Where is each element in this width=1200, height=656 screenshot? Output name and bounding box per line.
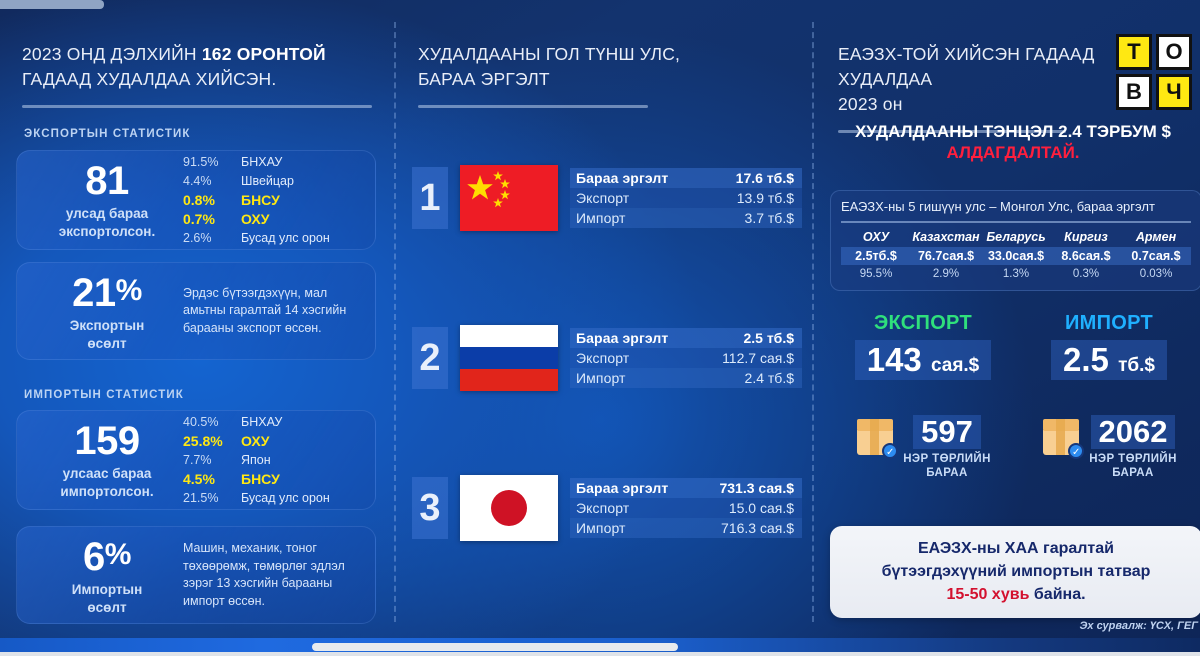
import-value: 716.3 сая.$ xyxy=(721,520,794,536)
import-country-count: 159 xyxy=(74,419,139,463)
import-country-list: 40.5%БНХАУ 25.8%ОХУ 7.7%Япон 4.5%БНСУ 21… xyxy=(183,413,361,508)
japan-flag-icon xyxy=(460,475,558,541)
col-header: Казахстан xyxy=(911,229,981,247)
export-value: 15.0 сая.$ xyxy=(729,500,794,516)
import-label: Импорт xyxy=(576,210,626,226)
rank-number: 1 xyxy=(412,167,448,229)
eaeu-table: ОХУ Казахстан Беларусь Киргиз Армен 2.5т… xyxy=(841,229,1191,281)
list-item: 4.5%БНСУ xyxy=(183,470,361,489)
check-badge-icon: ✓ xyxy=(882,443,898,459)
list-item: 40.5%БНХАУ xyxy=(183,413,361,432)
right-column: ЕАЭЗХ-ТОЙ ХИЙСЭН ГАДААД ХУДАЛДАА2023 он … xyxy=(820,0,1200,638)
export-growth-caption: Экспортынөсөлт xyxy=(70,317,144,353)
turnover-label: Бараа эргэлт xyxy=(576,330,668,346)
table-header-row: ОХУ Казахстан Беларусь Киргиз Армен xyxy=(841,229,1191,247)
middle-column: ХУДАЛДААНЫ ГОЛ ТҮНШ УЛС,БАРАА ЭРГЭЛТ 1 Б… xyxy=(400,0,812,638)
china-flag-icon xyxy=(460,165,558,231)
pct-value: 0.7% xyxy=(183,210,235,229)
partner-stats-3: Бараа эргэлт731.3 сая.$ Экспорт15.0 сая.… xyxy=(570,478,802,538)
heading-rule xyxy=(418,105,648,108)
import-row: Импорт3.7 тб.$ xyxy=(570,208,802,228)
country-name: Япон xyxy=(241,451,271,470)
turnover-label: Бараа эргэлт xyxy=(576,170,668,186)
col-header: ОХУ xyxy=(841,229,911,247)
import-count-block: 159 улсаас барааимпортолсон. xyxy=(31,419,183,501)
export-growth-block: 21% Экспортынөсөлт xyxy=(31,269,183,353)
import-count-caption: улсаас барааимпортолсон. xyxy=(60,465,153,501)
left-column: 2023 ОНД ДЭЛХИЙН 162 ОРОНТОЙГАДААД ХУДАЛ… xyxy=(0,0,396,638)
logo-tile-t: Т xyxy=(1116,34,1152,70)
eaeu-import-label: ИМПОРТ xyxy=(1016,312,1200,335)
pct-value: 0.8% xyxy=(183,191,235,210)
left-heading-block: 2023 ОНД ДЭЛХИЙН 162 ОРОНТОЙГАДААД ХУДАЛ… xyxy=(22,42,372,108)
middle-heading-block: ХУДАЛДААНЫ ГОЛ ТҮНШ УЛС,БАРАА ЭРГЭЛТ xyxy=(418,42,718,108)
eaeu-import-block: ИМПОРТ 2.5 тб.$ xyxy=(1016,312,1200,380)
export-import-summary: ЭКСПОРТ 143 сая.$ ИМПОРТ 2.5 тб.$ xyxy=(830,312,1200,380)
country-name: Бусад улс орон xyxy=(241,489,330,508)
goods-item-import: ✓ 2062 НЭР ТӨРЛИЙНБАРАА xyxy=(1016,415,1200,480)
import-growth-note: Машин, механик, тоног төхөөрөмж, төмөрлө… xyxy=(183,540,361,610)
pct-value: 4.4% xyxy=(183,172,235,191)
import-row: Импорт716.3 сая.$ xyxy=(570,518,802,538)
russia-flag-icon xyxy=(460,325,558,391)
column-divider-left xyxy=(394,22,396,622)
cell-value: 0.7сая.$ xyxy=(1121,247,1191,265)
eaeu-table-card: ЕАЭЗХ-ны 5 гишүүн улс – Монгол Улс, бара… xyxy=(830,190,1200,291)
partner-row-3: 3 Бараа эргэлт731.3 сая.$ Экспорт15.0 са… xyxy=(412,475,802,541)
import-growth-caption: Импортынөсөлт xyxy=(72,581,142,617)
goods-caption: НЭР ТӨРЛИЙНБАРАА xyxy=(1089,452,1177,480)
eaeu-export-block: ЭКСПОРТ 143 сая.$ xyxy=(830,312,1016,380)
country-name: БНХАУ xyxy=(241,413,282,432)
pct-value: 25.8% xyxy=(183,432,235,451)
export-count-block: 81 улсад барааэкспортолсон. xyxy=(31,159,183,241)
logo-tile-v: В xyxy=(1116,74,1152,110)
import-growth-value: 6% xyxy=(83,533,131,579)
list-item: 0.8%БНСУ xyxy=(183,191,361,210)
import-value: 3.7 тб.$ xyxy=(745,210,794,226)
export-label: Экспорт xyxy=(576,500,629,516)
eaeu-export-label: ЭКСПОРТ xyxy=(830,312,1016,335)
export-growth-value: 21% xyxy=(72,269,142,315)
country-name: Бусад улс орон xyxy=(241,229,330,248)
list-item: 7.7%Япон xyxy=(183,451,361,470)
import-countries-card: 159 улсаас барааимпортолсон. 40.5%БНХАУ … xyxy=(16,410,376,510)
turnover-row: Бараа эргэлт731.3 сая.$ xyxy=(570,478,802,498)
turnover-row: Бараа эргэлт2.5 тб.$ xyxy=(570,328,802,348)
list-item: 2.6%Бусад улс орон xyxy=(183,229,361,248)
export-country-list: 91.5%БНХАУ 4.4%Швейцар 0.8%БНСУ 0.7%ОХУ … xyxy=(183,153,361,248)
infographic-canvas: 2023 ОНД ДЭЛХИЙН 162 ОРОНТОЙГАДААД ХУДАЛ… xyxy=(0,0,1200,656)
export-row: Экспорт13.9 тб.$ xyxy=(570,188,802,208)
country-name: ОХУ xyxy=(241,210,269,229)
window-bottom-edge xyxy=(0,652,1200,656)
source-note: Эх сурвалж: ҮСХ, ГЕГ xyxy=(830,620,1200,632)
country-name: Швейцар xyxy=(241,172,294,191)
eaeu-table-caption: ЕАЭЗХ-ны 5 гишүүн улс – Монгол Улс, бара… xyxy=(841,199,1191,223)
country-name: БНХАУ xyxy=(241,153,282,172)
callout-red-value: 15-50 хувь xyxy=(946,586,1029,603)
list-item: 25.8%ОХУ xyxy=(183,432,361,451)
export-growth-note: Эрдэс бүтээгдэхүүн, мал амьтны гаралтай … xyxy=(183,285,361,338)
cell-percent: 2.9% xyxy=(911,265,981,281)
partner-stats-1: Бараа эргэлт17.6 тб.$ Экспорт13.9 тб.$ И… xyxy=(570,168,802,228)
table-row: 95.5% 2.9% 1.3% 0.3% 0.03% xyxy=(841,265,1191,281)
balance-title: ХУДАЛДААНЫ ТЭНЦЭЛ 2.4 ТЭРБУМ $ xyxy=(826,120,1200,143)
goods-item-export: ✓ 597 НЭР ТӨРЛИЙНБАРАА xyxy=(830,415,1016,480)
country-name: БНСУ xyxy=(241,191,280,210)
import-row: Импорт2.4 тб.$ xyxy=(570,368,802,388)
turnover-value: 731.3 сая.$ xyxy=(719,480,794,496)
pct-value: 21.5% xyxy=(183,489,235,508)
cell-value: 76.7сая.$ xyxy=(911,247,981,265)
export-row: Экспорт15.0 сая.$ xyxy=(570,498,802,518)
turnover-row: Бараа эргэлт17.6 тб.$ xyxy=(570,168,802,188)
import-growth-block: 6% Импортынөсөлт xyxy=(31,533,183,617)
cell-value: 33.0сая.$ xyxy=(981,247,1051,265)
pct-value: 2.6% xyxy=(183,229,235,248)
turnover-label: Бараа эргэлт xyxy=(576,480,668,496)
col-header: Беларусь xyxy=(981,229,1051,247)
logo-tile-ch: Ч xyxy=(1156,74,1192,110)
list-item: 0.7%ОХУ xyxy=(183,210,361,229)
pct-value: 7.7% xyxy=(183,451,235,470)
goods-count: 2062 xyxy=(1091,415,1176,449)
eaeu-import-value: 2.5 тб.$ xyxy=(1051,340,1167,380)
export-row: Экспорт112.7 сая.$ xyxy=(570,348,802,368)
list-item: 21.5%Бусад улс орон xyxy=(183,489,361,508)
list-item: 91.5%БНХАУ xyxy=(183,153,361,172)
partner-stats-2: Бараа эргэлт2.5 тб.$ Экспорт112.7 сая.$ … xyxy=(570,328,802,388)
export-value: 112.7 сая.$ xyxy=(722,350,794,366)
heading-rule xyxy=(22,105,372,108)
export-growth-card: 21% Экспортынөсөлт Эрдэс бүтээгдэхүүн, м… xyxy=(16,262,376,360)
top-scrollbar[interactable] xyxy=(0,0,104,9)
col-header: Киргиз xyxy=(1051,229,1121,247)
list-item: 4.4%Швейцар xyxy=(183,172,361,191)
goods-count-summary: ✓ 597 НЭР ТӨРЛИЙНБАРАА ✓ 2062 НЭР ТӨРЛИЙ… xyxy=(830,415,1200,480)
package-box-icon: ✓ xyxy=(1041,419,1081,457)
logo-tile-o: О xyxy=(1156,34,1192,70)
balance-block: ХУДАЛДААНЫ ТЭНЦЭЛ 2.4 ТЭРБУМ $ АЛДАГДАЛТ… xyxy=(826,120,1200,163)
column-divider-right xyxy=(812,22,814,622)
partner-row-2: 2 Бараа эргэлт2.5 тб.$ Экспорт112.7 сая.… xyxy=(412,325,802,391)
import-growth-card: 6% Импортынөсөлт Машин, механик, тоног т… xyxy=(16,526,376,624)
china-flag-stars xyxy=(460,165,558,231)
cell-percent: 0.03% xyxy=(1121,265,1191,281)
pct-value: 40.5% xyxy=(183,413,235,432)
callout-text: ЕАЭЗХ-ны ХАА гаралтай бүтээгдэхүүний имп… xyxy=(842,537,1190,606)
turnover-value: 17.6 тб.$ xyxy=(736,170,794,186)
goods-count: 597 xyxy=(913,415,981,449)
export-country-count: 81 xyxy=(85,159,129,203)
tariff-callout: ЕАЭЗХ-ны ХАА гаралтай бүтээгдэхүүний имп… xyxy=(830,526,1200,618)
cell-percent: 1.3% xyxy=(981,265,1051,281)
bottom-scrollbar-thumb[interactable] xyxy=(312,643,678,651)
import-label: Импорт xyxy=(576,370,626,386)
partner-row-1: 1 Бараа эргэлт17.6 тб.$ Экспорт13.9 тб.$… xyxy=(412,165,802,231)
export-label: Экспорт xyxy=(576,190,629,206)
rank-number: 3 xyxy=(412,477,448,539)
eaeu-export-value: 143 сая.$ xyxy=(855,340,992,380)
balance-loss-text: АЛДАГДАЛТАЙ. xyxy=(826,143,1200,163)
export-countries-card: 81 улсад барааэкспортолсон. 91.5%БНХАУ 4… xyxy=(16,150,376,250)
export-value: 13.9 тб.$ xyxy=(737,190,794,206)
goods-caption: НЭР ТӨРЛИЙНБАРАА xyxy=(903,452,991,480)
channel-logo: Т О В Ч xyxy=(1116,34,1192,110)
cell-percent: 0.3% xyxy=(1051,265,1121,281)
left-heading: 2023 ОНД ДЭЛХИЙН 162 ОРОНТОЙГАДААД ХУДАЛ… xyxy=(22,42,372,92)
cell-percent: 95.5% xyxy=(841,265,911,281)
check-badge-icon: ✓ xyxy=(1068,443,1084,459)
export-count-caption: улсад барааэкспортолсон. xyxy=(59,205,155,241)
country-name: БНСУ xyxy=(241,470,280,489)
cell-value: 8.6сая.$ xyxy=(1051,247,1121,265)
middle-heading: ХУДАЛДААНЫ ГОЛ ТҮНШ УЛС,БАРАА ЭРГЭЛТ xyxy=(418,42,718,92)
export-stats-label: ЭКСПОРТЫН СТАТИСТИК xyxy=(24,128,190,140)
turnover-value: 2.5 тб.$ xyxy=(743,330,794,346)
country-name: ОХУ xyxy=(241,432,269,451)
pct-value: 4.5% xyxy=(183,470,235,489)
import-stats-label: ИМПОРТЫН СТАТИСТИК xyxy=(24,389,184,401)
cell-value: 2.5тб.$ xyxy=(841,247,911,265)
import-label: Импорт xyxy=(576,520,626,536)
import-value: 2.4 тб.$ xyxy=(745,370,794,386)
col-header: Армен xyxy=(1121,229,1191,247)
table-row: 2.5тб.$ 76.7сая.$ 33.0сая.$ 8.6сая.$ 0.7… xyxy=(841,247,1191,265)
package-box-icon: ✓ xyxy=(855,419,895,457)
pct-value: 91.5% xyxy=(183,153,235,172)
rank-number: 2 xyxy=(412,327,448,389)
export-label: Экспорт xyxy=(576,350,629,366)
